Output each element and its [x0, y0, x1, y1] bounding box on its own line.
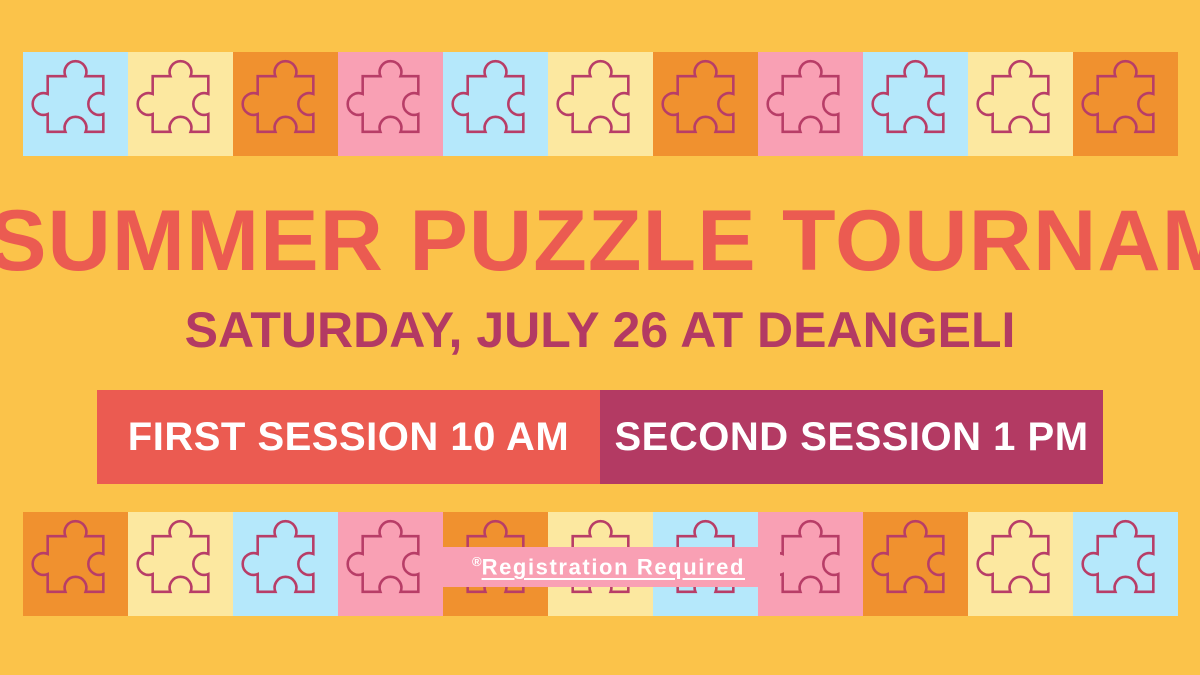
puzzle-piece-icon	[23, 512, 128, 616]
registered-trademark-icon: ®	[472, 554, 482, 569]
registration-label: Registration Required	[482, 554, 745, 579]
puzzle-tile	[863, 512, 968, 616]
puzzle-tile	[968, 512, 1073, 616]
puzzle-tile	[968, 52, 1073, 156]
poster-canvas: SUMMER PUZZLE TOURNAMENT SATURDAY, JULY …	[0, 0, 1200, 675]
puzzle-piece-icon	[338, 52, 443, 156]
session-second-bar: SECOND SESSION 1 PM	[600, 390, 1103, 484]
puzzle-tile	[233, 512, 338, 616]
puzzle-piece-icon	[338, 512, 443, 616]
session-second-label: SECOND SESSION 1 PM	[614, 415, 1088, 460]
page-title: SUMMER PUZZLE TOURNAMENT	[0, 196, 1200, 286]
puzzle-piece-icon	[1073, 512, 1178, 616]
puzzle-piece-icon	[653, 52, 758, 156]
puzzle-tile	[443, 52, 548, 156]
puzzle-tile	[338, 512, 443, 616]
event-date-location: SATURDAY, JULY 26 AT DEANGELI	[0, 303, 1200, 357]
puzzle-strip-top	[0, 52, 1200, 156]
puzzle-piece-icon	[863, 512, 968, 616]
puzzle-tile	[653, 52, 758, 156]
registration-banner: ®Registration Required	[437, 547, 780, 587]
puzzle-tile	[128, 512, 233, 616]
puzzle-tile	[338, 52, 443, 156]
puzzle-piece-icon	[233, 512, 338, 616]
puzzle-piece-icon	[233, 52, 338, 156]
puzzle-piece-icon	[968, 52, 1073, 156]
puzzle-tile	[1073, 512, 1178, 616]
puzzle-piece-icon	[863, 52, 968, 156]
puzzle-piece-icon	[23, 52, 128, 156]
registration-required-text: ®Registration Required	[472, 554, 745, 580]
puzzle-tile	[1073, 52, 1178, 156]
puzzle-tile	[233, 52, 338, 156]
puzzle-tile	[548, 52, 653, 156]
puzzle-piece-icon	[1073, 52, 1178, 156]
puzzle-tile	[23, 52, 128, 156]
session-bar-group: FIRST SESSION 10 AM SECOND SESSION 1 PM	[97, 390, 1103, 484]
puzzle-tile	[23, 512, 128, 616]
puzzle-piece-icon	[443, 52, 548, 156]
puzzle-piece-icon	[548, 52, 653, 156]
puzzle-piece-icon	[758, 52, 863, 156]
puzzle-tile	[863, 52, 968, 156]
session-first-label: FIRST SESSION 10 AM	[128, 415, 569, 460]
puzzle-piece-icon	[128, 52, 233, 156]
puzzle-tile	[758, 52, 863, 156]
puzzle-tile	[128, 52, 233, 156]
session-first-bar: FIRST SESSION 10 AM	[97, 390, 600, 484]
puzzle-piece-icon	[128, 512, 233, 616]
puzzle-piece-icon	[968, 512, 1073, 616]
